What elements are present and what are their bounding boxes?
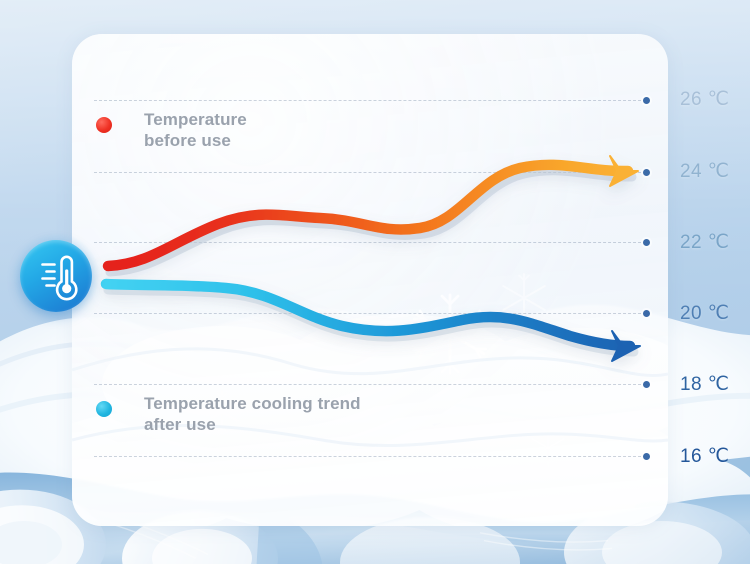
y-axis-labels: 26 ℃ 24 ℃ 22 ℃ 20 ℃ 18 ℃ 16 ℃ <box>680 0 750 564</box>
thermometer-icon <box>20 240 92 312</box>
axis-label: 20 ℃ <box>680 302 729 325</box>
red-dot-icon <box>96 117 112 133</box>
axis-label: 16 ℃ <box>680 445 729 468</box>
legend-label-after-use: Temperature cooling trend after use <box>144 394 361 435</box>
thermometer-badge <box>20 240 92 312</box>
axis-label: 22 ℃ <box>680 231 729 254</box>
infographic-canvas: Temperature before use Temperature cooli… <box>0 0 750 564</box>
chart-card <box>72 34 668 526</box>
legend-label-before-use: Temperature before use <box>144 110 247 151</box>
legend-item-after-use: Temperature cooling trend after use <box>96 394 361 435</box>
trend-curves <box>72 34 668 526</box>
axis-label: 18 ℃ <box>680 373 729 396</box>
badge-circle <box>20 240 92 312</box>
axis-label: 24 ℃ <box>680 160 729 183</box>
axis-label: 26 ℃ <box>680 88 729 111</box>
legend-item-before-use: Temperature before use <box>96 110 247 151</box>
cyan-dot-icon <box>96 401 112 417</box>
